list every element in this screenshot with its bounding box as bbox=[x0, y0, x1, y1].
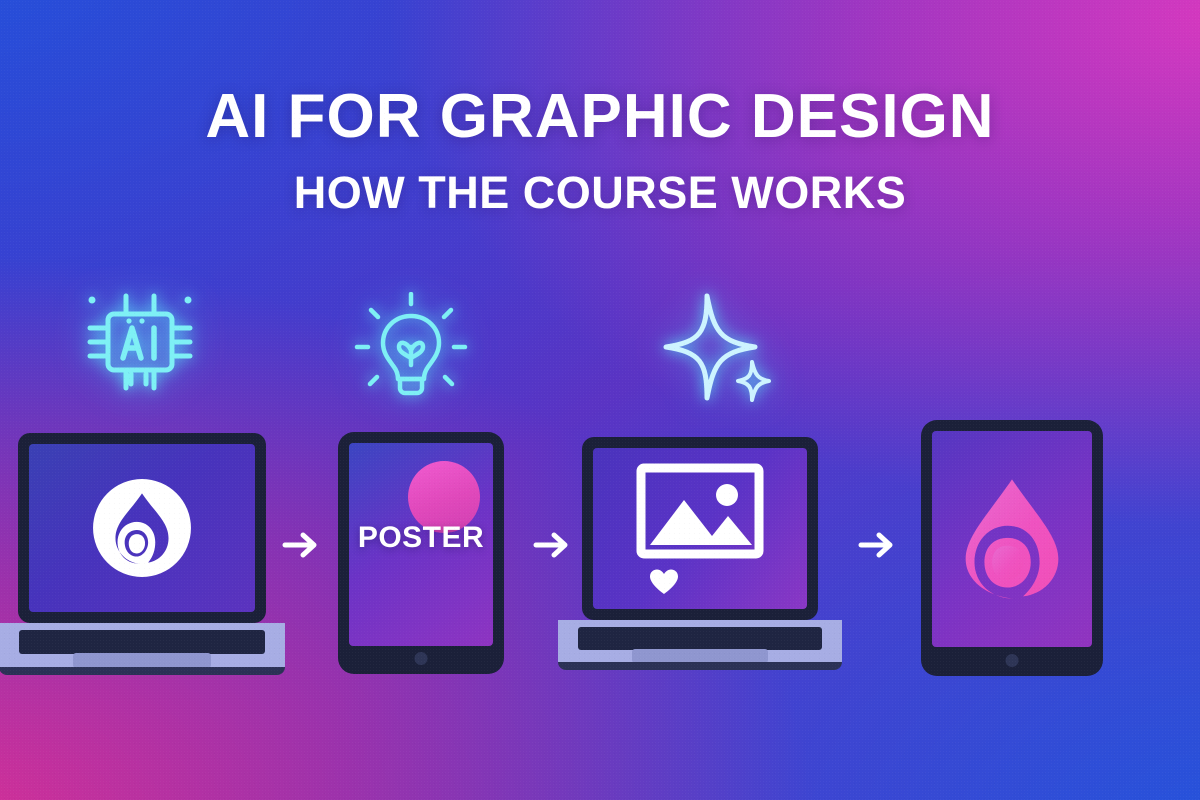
tablet-body: POSTER bbox=[338, 432, 504, 674]
lightbulb-icon bbox=[352, 292, 470, 402]
workflow-arrow-3 bbox=[855, 523, 899, 567]
laptop-base bbox=[0, 623, 285, 675]
tablet-screen-logo bbox=[932, 431, 1092, 647]
tablet-device-step-4[interactable] bbox=[921, 420, 1103, 676]
poster-canvas: AI FOR GRAPHIC DESIGN HOW THE COURSE WOR… bbox=[0, 0, 1200, 800]
heart-icon bbox=[649, 569, 679, 595]
laptop-base bbox=[558, 620, 842, 670]
laptop-screen-3 bbox=[593, 448, 807, 609]
laptop-device-step-3[interactable] bbox=[582, 437, 842, 670]
page-title: AI FOR GRAPHIC DESIGN bbox=[0, 86, 1200, 148]
droplet-logo-pink-icon bbox=[956, 475, 1068, 603]
laptop-keyboard bbox=[578, 627, 822, 650]
workflow-arrow-1 bbox=[279, 523, 323, 567]
laptop-lid bbox=[582, 437, 818, 620]
tablet-device-step-2[interactable]: POSTER bbox=[338, 432, 504, 674]
poster-label: POSTER bbox=[349, 521, 493, 555]
laptop-device-step-1[interactable] bbox=[18, 433, 285, 675]
title-block: AI FOR GRAPHIC DESIGN HOW THE COURSE WOR… bbox=[0, 86, 1200, 215]
laptop-lid bbox=[18, 433, 266, 623]
tablet-body bbox=[921, 420, 1103, 676]
laptop-keyboard bbox=[19, 630, 265, 654]
tablet-home-button[interactable] bbox=[1006, 654, 1019, 667]
tablet-home-button[interactable] bbox=[415, 652, 428, 665]
laptop-trackpad bbox=[632, 649, 768, 663]
sparkle-icon bbox=[660, 292, 780, 402]
image-placeholder-icon bbox=[636, 463, 764, 559]
workflow-arrow-2 bbox=[530, 523, 574, 567]
page-subtitle: HOW THE COURSE WORKS bbox=[0, 170, 1200, 215]
ai-chip-icon bbox=[76, 278, 204, 406]
laptop-trackpad bbox=[73, 653, 210, 668]
droplet-logo-icon bbox=[91, 477, 193, 579]
laptop-screen-1 bbox=[29, 444, 255, 612]
tablet-screen-poster: POSTER bbox=[349, 443, 493, 646]
